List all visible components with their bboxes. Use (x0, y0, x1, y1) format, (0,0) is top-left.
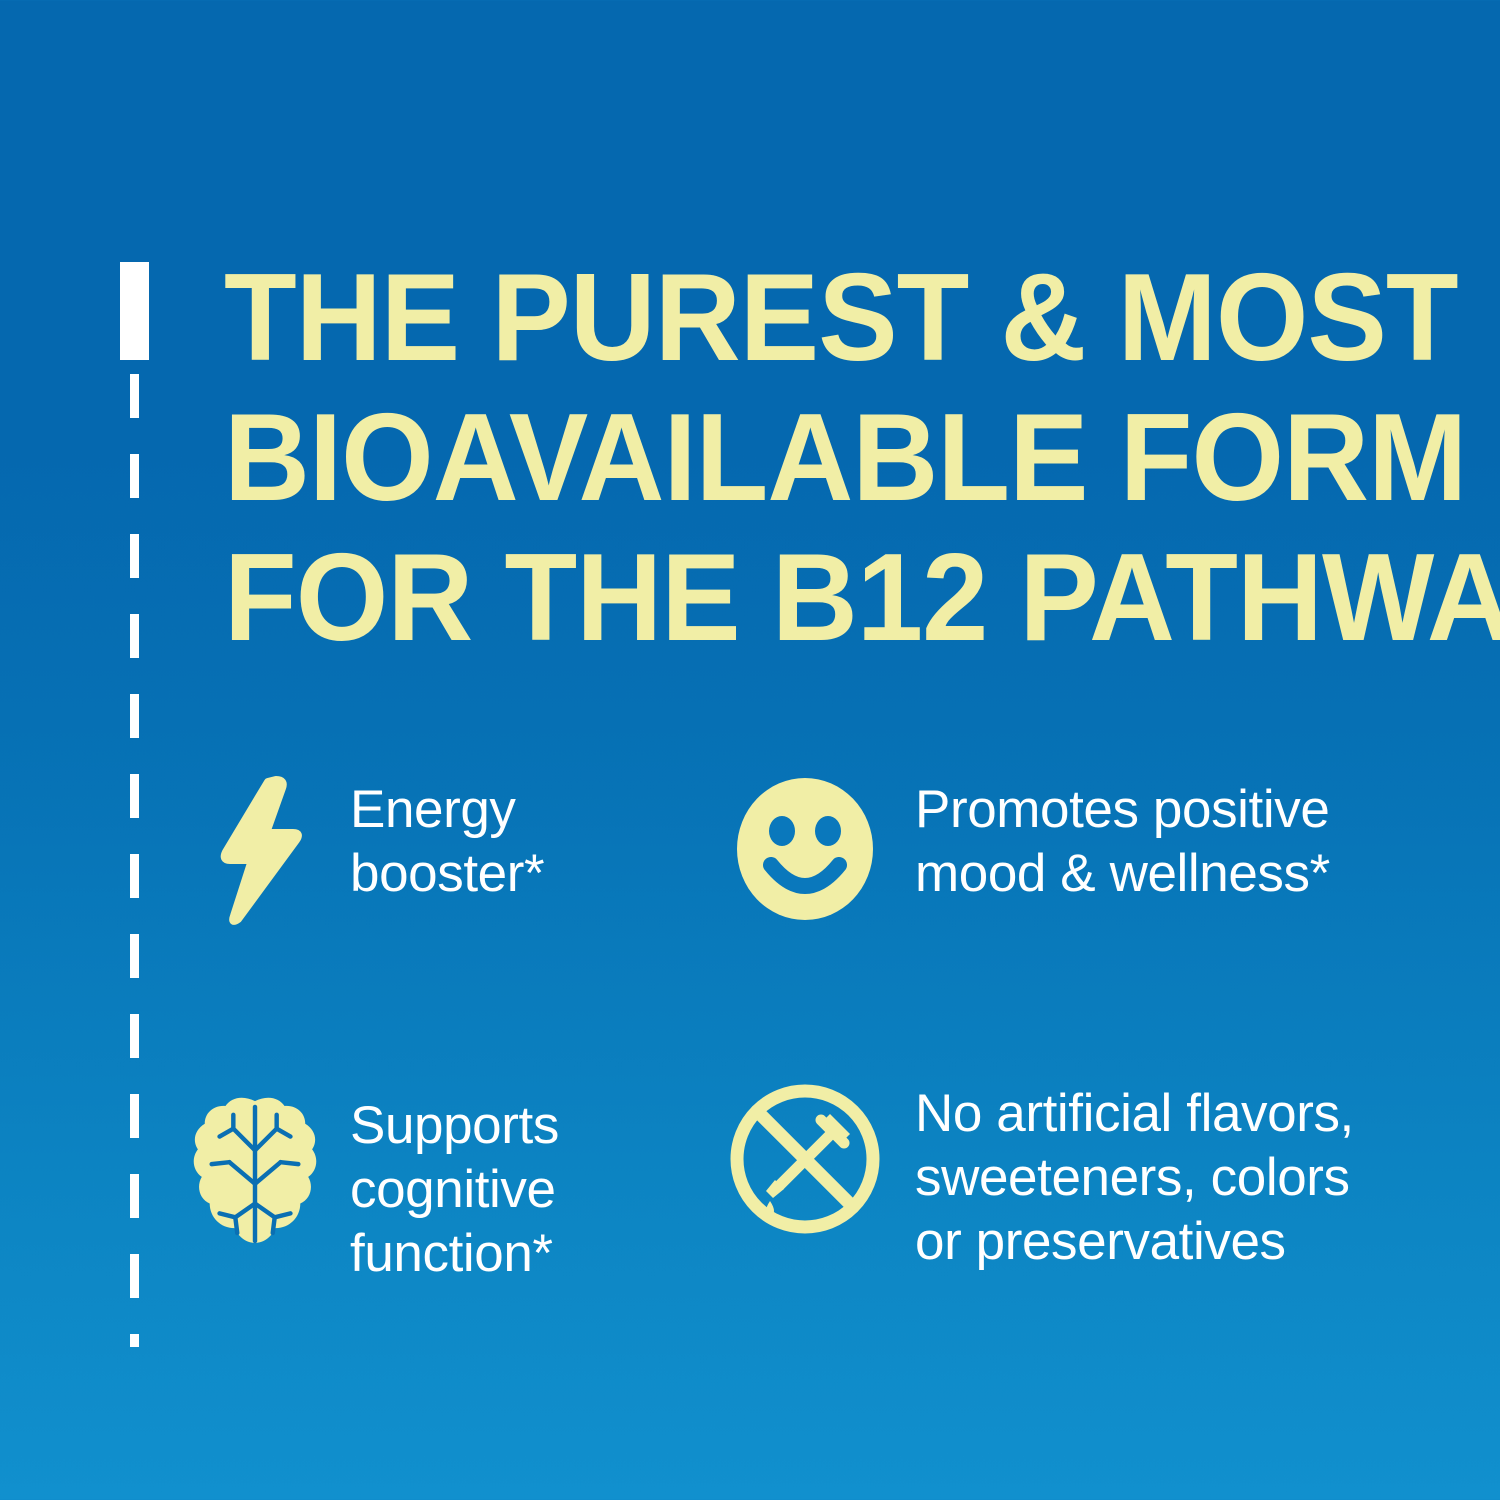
benefit-no-artificial-line-1: No artificial flavors, (915, 1082, 1354, 1146)
benefit-cognitive-line-3: function* (350, 1222, 559, 1286)
lightning-bolt-icon (190, 770, 320, 926)
benefit-cognitive-label: Supports cognitive function* (350, 1086, 559, 1286)
headline-line-1: THE PUREST & MOST (224, 248, 1424, 388)
benefit-energy-booster: Energy booster* (190, 770, 735, 1080)
benefit-energy-line-2: booster* (350, 842, 544, 906)
benefit-energy-line-1: Energy (350, 778, 544, 842)
benefit-cognitive-line-2: cognitive (350, 1158, 559, 1222)
benefits-grid: Energy booster* Promotes positive mood &… (190, 770, 1460, 1286)
benefit-no-artificial-label: No artificial flavors, sweeteners, color… (915, 1074, 1354, 1274)
benefit-energy-label: Energy booster* (350, 770, 544, 906)
benefit-mood-line-1: Promotes positive (915, 778, 1330, 842)
headline-line-2: BIOAVAILABLE FORM (224, 388, 1424, 528)
benefit-no-artificial-line-2: sweeteners, colors (915, 1146, 1354, 1210)
no-dropper-icon (725, 1074, 885, 1238)
benefit-cognitive-function: Supports cognitive function* (190, 1086, 735, 1286)
brain-icon (190, 1086, 320, 1252)
benefit-mood-label: Promotes positive mood & wellness* (915, 770, 1330, 906)
left-accent-rail (120, 262, 150, 1347)
rail-solid-bar (120, 262, 149, 360)
headline-line-3: FOR THE B12 PATHWAY (224, 528, 1424, 668)
smiley-face-icon (725, 770, 885, 922)
page-title: THE PUREST & MOST BIOAVAILABLE FORM FOR … (224, 248, 1474, 668)
benefit-no-artificial-ingredients: No artificial flavors, sweeteners, color… (725, 1074, 1460, 1286)
benefit-no-artificial-line-3: or preservatives (915, 1210, 1354, 1274)
benefit-cognitive-line-1: Supports (350, 1094, 559, 1158)
benefit-mood-line-2: mood & wellness* (915, 842, 1330, 906)
rail-dashed-line (130, 374, 139, 1347)
benefit-positive-mood: Promotes positive mood & wellness* (725, 770, 1460, 1080)
